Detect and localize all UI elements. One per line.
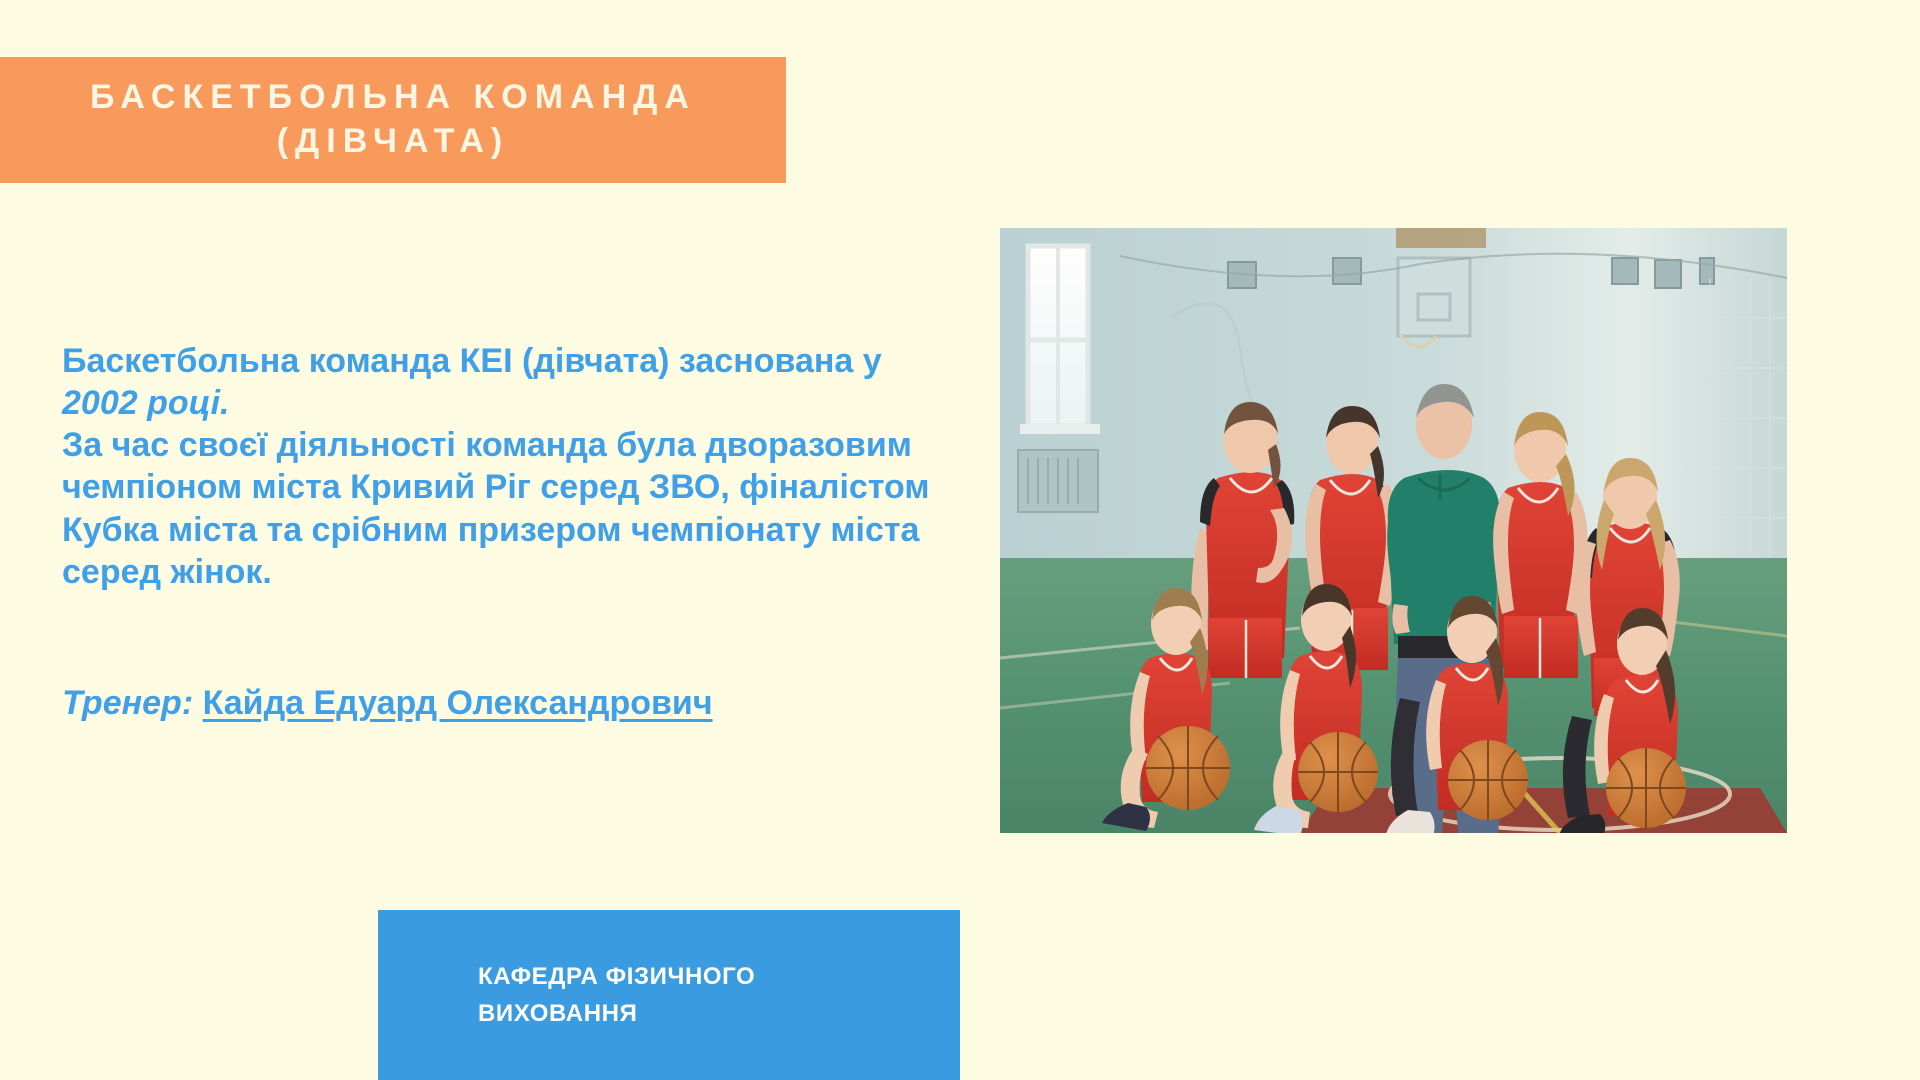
- coach-label: Тренер:: [62, 684, 193, 722]
- founding-year: 2002 році.: [62, 384, 229, 422]
- title-banner: БАСКЕТБОЛЬНА КОМАНДА (ДІВЧАТА): [0, 57, 786, 183]
- body-paragraph-1-text: Баскетбольна команда КЕІ (дівчата) засно…: [62, 342, 882, 380]
- page-title-line-2: (ДІВЧАТА): [277, 120, 510, 164]
- body-paragraph-1: Баскетбольна команда КЕІ (дівчата) засно…: [62, 340, 962, 424]
- page-title-line-1: БАСКЕТБОЛЬНА КОМАНДА: [90, 76, 696, 120]
- slide-root: БАСКЕТБОЛЬНА КОМАНДА (ДІВЧАТА) Баскетбол…: [0, 0, 1920, 1080]
- coach-line: Тренер: Кайда Едуард Олександрович: [62, 684, 713, 723]
- body-paragraph-2: За час своєї діяльності команда була дво…: [62, 424, 962, 593]
- department-footer-chip: КАФЕДРА ФІЗИЧНОГО ВИХОВАННЯ: [378, 910, 960, 1080]
- department-line-1: КАФЕДРА ФІЗИЧНОГО: [478, 958, 960, 995]
- department-line-2: ВИХОВАННЯ: [478, 995, 960, 1032]
- team-photo-illustration: [1000, 228, 1787, 833]
- body-text-block: Баскетбольна команда КЕІ (дівчата) засно…: [62, 340, 962, 593]
- coach-name[interactable]: Кайда Едуард Олександрович: [203, 684, 713, 722]
- team-photo: [1000, 228, 1787, 833]
